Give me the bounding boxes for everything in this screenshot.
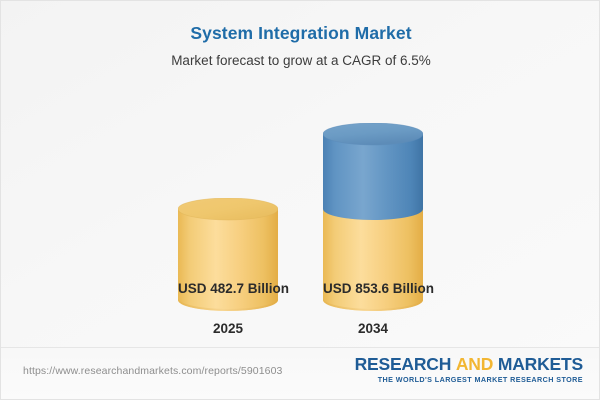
value-label-2034: USD 853.6 Billion	[323, 281, 423, 296]
report-url[interactable]: https://www.researchandmarkets.com/repor…	[23, 365, 282, 377]
value-label-2025: USD 482.7 Billion	[178, 281, 278, 296]
category-label-2025: 2025	[178, 321, 278, 336]
plot-area: USD 482.7 Billion	[1, 1, 600, 349]
logo-word-and: AND	[456, 354, 493, 374]
logo-word-markets: MARKETS	[498, 354, 583, 374]
footer: https://www.researchandmarkets.com/repor…	[1, 347, 600, 399]
chart-card: System Integration Market Market forecas…	[0, 0, 600, 400]
logo-tagline: THE WORLD'S LARGEST MARKET RESEARCH STOR…	[355, 375, 583, 384]
category-label-2034: 2034	[323, 321, 423, 336]
brand-logo[interactable]: RESEARCH AND MARKETS THE WORLD'S LARGEST…	[355, 355, 583, 384]
logo-word-research: RESEARCH	[355, 354, 452, 374]
logo-wordmark: RESEARCH AND MARKETS	[355, 355, 583, 374]
